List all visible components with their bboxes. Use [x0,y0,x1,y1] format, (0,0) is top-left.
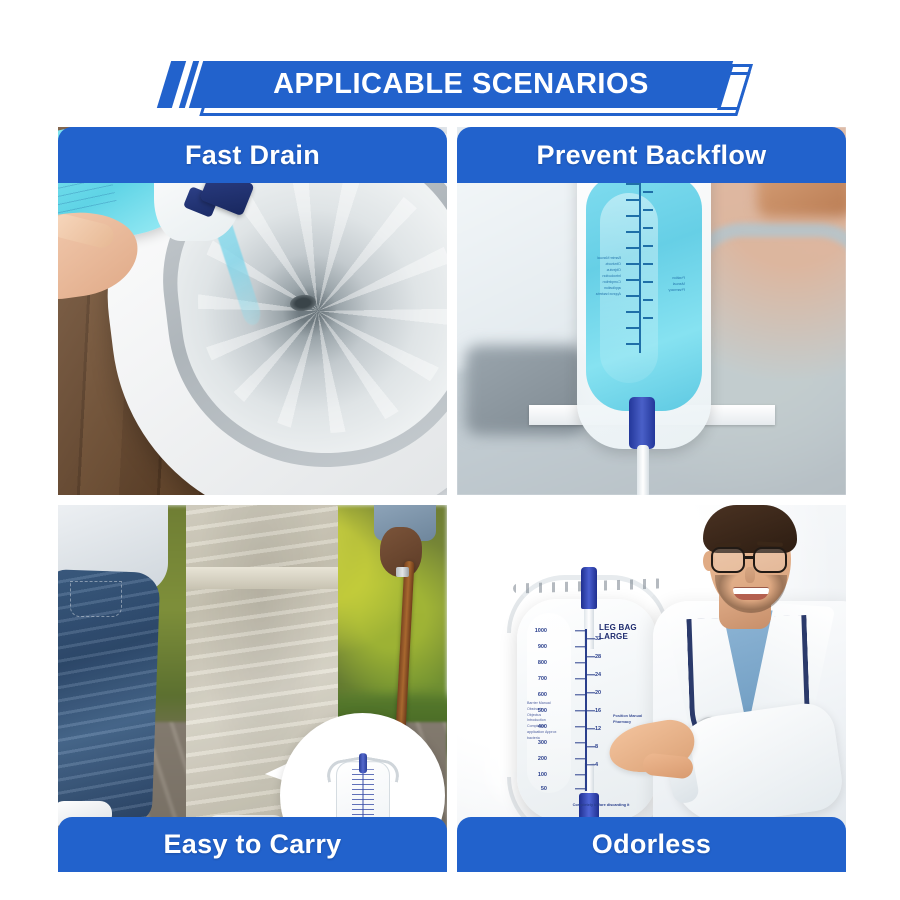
glasses-lens-right [753,547,787,573]
grad-ml-3: 700 [538,676,547,682]
grad-ml-4: 600 [538,692,547,698]
grad-ml-9: 100 [538,772,547,778]
panel-easy-to-carry: Easy to Carry [58,505,447,872]
grad-ml-0: 1000 [535,628,547,634]
panel-fast-drain: Fast Drain [58,127,447,495]
grad-oz-6: 8 [595,744,598,750]
panel-odorless: LEG BAG LARGE 1000 900 800 700 600 500 4… [457,505,846,872]
bag-side-text-right: Position Manual Pharmacy [661,275,685,293]
trouser-waistband [186,567,338,589]
panel-label-prevent-backflow: Prevent Backflow [457,127,846,183]
panel-label-fast-drain: Fast Drain [58,127,447,183]
product-leg-bag: LEG BAG LARGE 1000 900 800 700 600 500 4… [499,541,679,831]
callout-inlet [359,753,367,773]
page-title: APPLICABLE SCENARIOS [196,61,726,108]
drainage-tube [637,445,649,495]
grad-ml-1: 900 [538,644,547,650]
grad-oz-3: 20 [595,690,601,696]
product-side-text-left: Barrier Manual Obstructs Objectus Introd… [527,701,557,741]
brand-line-1: LEG BAG [599,623,637,632]
cane-band [396,567,409,577]
glasses-lens-left [711,547,745,573]
bag-outlet-valve [629,397,655,449]
infographic-page: APPLICABLE SCENARIOS Fast Drain [0,0,900,900]
grad-oz-5: 12 [595,726,601,732]
product-scale: LEG BAG LARGE 1000 900 800 700 600 500 4… [551,627,647,807]
grad-ml-10: 50 [541,786,547,792]
bag-scale-axis [639,179,641,353]
product-inlet-port [581,567,597,609]
grad-oz-7: 4 [595,762,598,768]
doctor-smile [733,587,769,600]
bag-side-text-left: Barrier Manual Obstructs Objectus Introd… [593,255,621,297]
grad-oz-2: 24 [595,672,601,678]
panel-prevent-backflow: Barrier Manual Obstructs Objectus Introd… [457,127,846,495]
grad-oz-0: 32 [595,636,601,642]
grad-ml-2: 800 [538,660,547,666]
jeans-pocket [70,581,122,617]
glasses-bridge [745,556,755,559]
panel-label-easy-to-carry: Easy to Carry [58,817,447,872]
product-footnote: Completely before discarding it [561,803,641,809]
header-banner: APPLICABLE SCENARIOS [0,28,900,108]
grad-oz-1: 28 [595,654,601,660]
brand-line-2: LARGE [599,632,637,641]
product-side-text-right: Position Manual Pharmacy [613,713,645,725]
grad-oz-4: 16 [595,708,601,714]
product-brand-label: LEG BAG LARGE [599,623,637,641]
grad-ml-8: 200 [538,756,547,762]
panel-label-odorless: Odorless [457,817,846,872]
